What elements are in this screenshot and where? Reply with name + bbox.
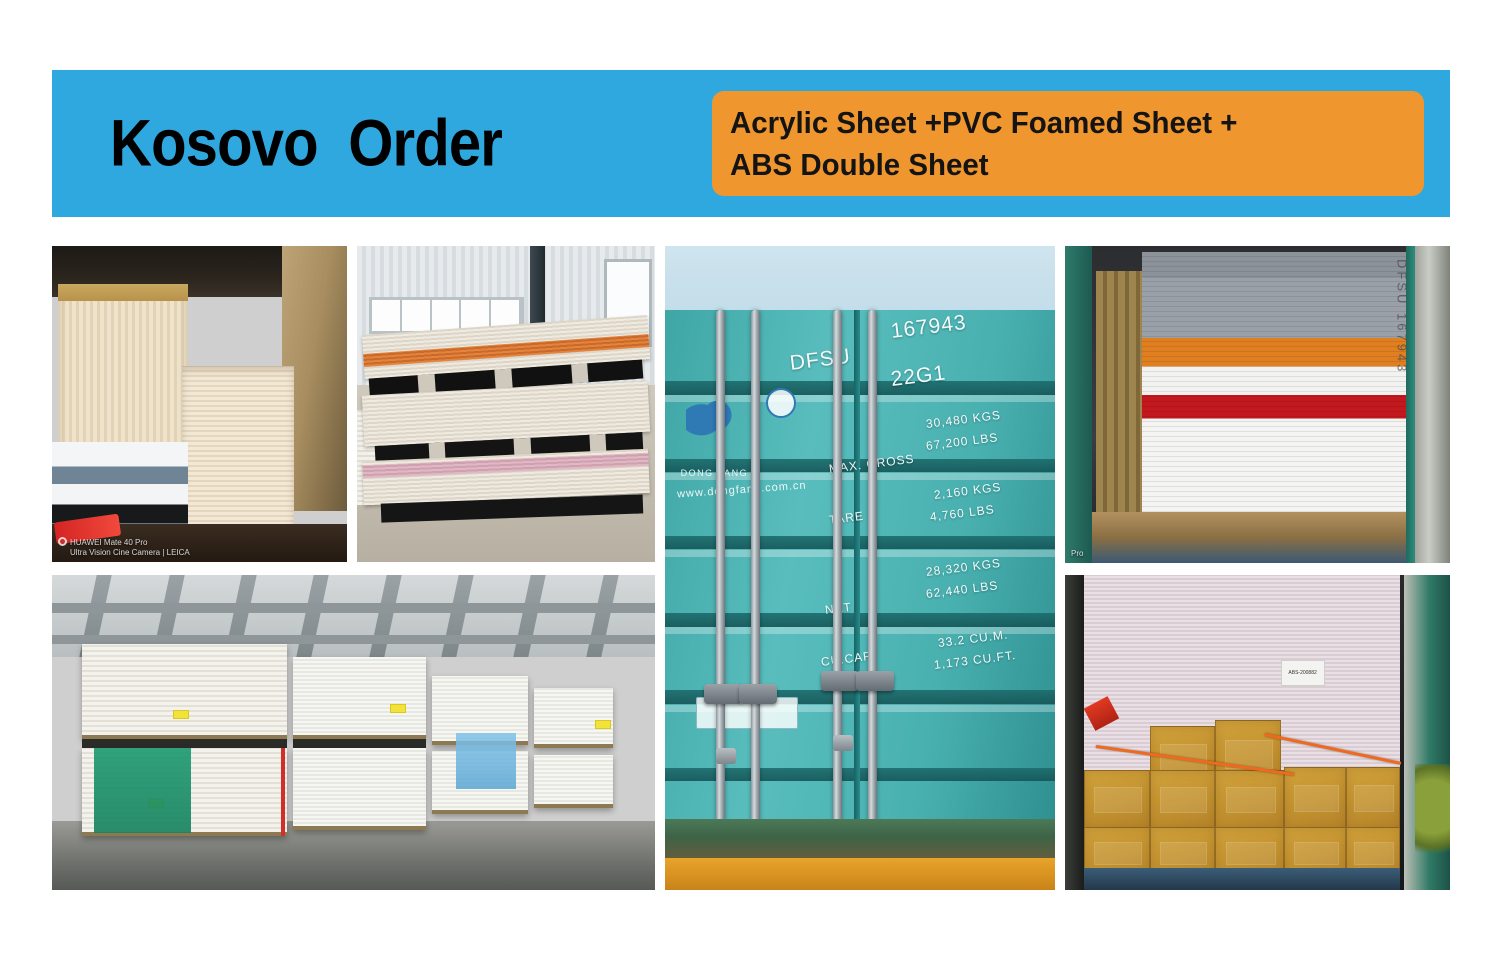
photo-grid: HUAWEI Mate 40 Pro Ultra Vision Cine Cam… <box>0 0 1500 959</box>
ceiling-beam-2 <box>52 635 655 644</box>
door-handle-2[interactable] <box>739 684 777 704</box>
container-door-right <box>1415 246 1450 563</box>
photo-container-cartons[interactable]: ABS-200882 Container loaded with cardboa… <box>1065 575 1450 890</box>
photo-factory-stacked-sheets[interactable]: Factory interior with stacked sheets on … <box>357 246 655 562</box>
green-wrapped-pallet <box>94 748 190 833</box>
pallet-gap-2 <box>293 739 426 748</box>
photo-container-colored-sheets[interactable]: DFSU 167943 Pro Container with grey, ora… <box>1065 246 1450 563</box>
pallet-stack-4 <box>293 748 426 830</box>
seal-icon <box>766 388 796 418</box>
slide-page: Kosovo Order Acrylic Sheet +PVC Foamed S… <box>0 0 1500 959</box>
door-handle-4[interactable] <box>856 671 894 691</box>
ground-floor <box>1092 512 1415 563</box>
watermark-line-2: Ultra Vision Cine Camera | LEICA <box>70 548 190 557</box>
pallet-label-1 <box>173 710 189 719</box>
watermark-line-1: HUAWEI Mate 40 Pro <box>70 538 148 547</box>
locking-rod-1 <box>716 310 725 851</box>
red-band-1 <box>281 748 285 836</box>
carton-5 <box>1215 770 1284 830</box>
photo-3-scene <box>52 575 655 890</box>
colored-sheet-stack <box>1142 252 1412 512</box>
container-edge-left <box>1065 575 1084 890</box>
photo-5-scene: DFSU 167943 <box>1065 246 1450 563</box>
blue-wrapped-pallet <box>456 733 516 790</box>
watermark-text: Pro <box>1071 549 1083 558</box>
door-handle-3[interactable] <box>821 671 859 691</box>
container-door-left <box>1065 246 1092 563</box>
door-container-marking: DFSU 167943 <box>1395 259 1410 374</box>
camera-watermark: HUAWEI Mate 40 Pro Ultra Vision Cine Cam… <box>58 537 190 558</box>
container-floor-blue <box>1084 868 1400 890</box>
vegetation <box>1415 764 1450 871</box>
door-handle-1[interactable] <box>704 684 742 704</box>
pallet-label-4 <box>595 720 611 729</box>
carton-label: ABS-200882 <box>1281 660 1325 686</box>
pallet-stack-3 <box>293 657 426 739</box>
photo-4-scene: DONG FANG www.dongfang.com.cn DFSU 16794… <box>665 246 1055 890</box>
locking-rod-2 <box>751 310 760 851</box>
carton-4 <box>1150 770 1215 830</box>
pallet-stack-7 <box>534 688 612 748</box>
camera-watermark-photo5: Pro <box>1071 549 1083 559</box>
carton-6 <box>1284 767 1346 830</box>
carton-3 <box>1084 770 1149 830</box>
photo-container-doors[interactable]: DONG FANG www.dongfang.com.cn DFSU 16794… <box>665 246 1055 890</box>
pallet-gap-1 <box>82 739 287 748</box>
leica-ring-icon <box>58 537 67 546</box>
yellow-loading-ramp <box>665 858 1055 890</box>
carton-7 <box>1346 767 1400 830</box>
ceiling-beam-1 <box>52 603 655 612</box>
sheet-stack-right <box>182 366 294 530</box>
fish-logo-icon <box>686 401 737 449</box>
photo-6-scene: ABS-200882 <box>1065 575 1450 890</box>
pallet-stack-1 <box>82 644 287 739</box>
photo-warehouse-pallets[interactable]: Warehouse with stacked sheet pallets <box>52 575 655 890</box>
pallet-label-3 <box>390 704 406 713</box>
locking-rod-4 <box>868 310 877 851</box>
pallet-stack-8 <box>534 755 612 809</box>
locking-rod-3 <box>833 310 842 851</box>
door-split <box>854 310 860 845</box>
shipping-line-name: DONG FANG <box>681 468 749 478</box>
photo-container-white-sheets[interactable]: HUAWEI Mate 40 Pro Ultra Vision Cine Cam… <box>52 246 347 562</box>
photo-1-scene <box>52 246 347 562</box>
photo-2-scene <box>357 246 655 562</box>
